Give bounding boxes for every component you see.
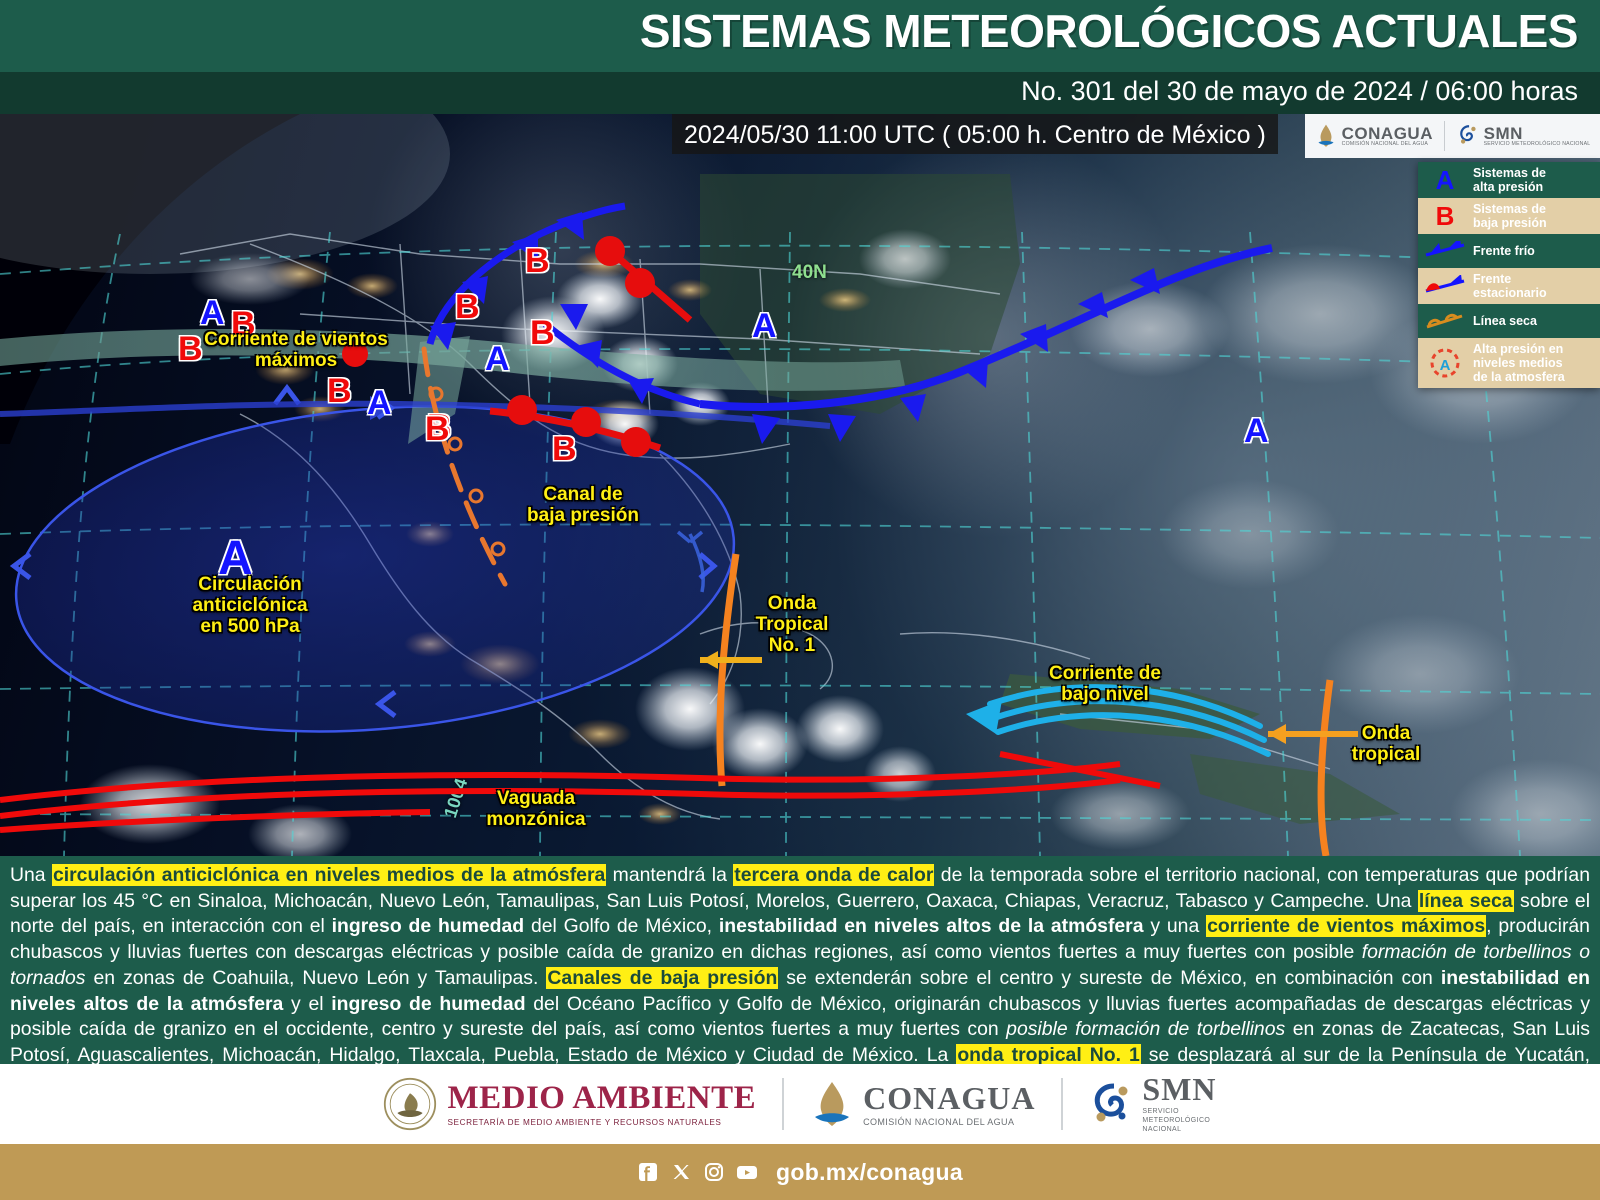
pressure-mark-B: B [552, 432, 577, 466]
forecast-segment-bd: inestabilidad en niveles altos de la atm… [10, 967, 1590, 1015]
stationary-front-northeast [595, 236, 690, 320]
forecast-segment-bd: inestabilidad en niveles altos de la atm… [719, 915, 1144, 937]
stationary-front-icon [1423, 275, 1467, 297]
pressure-mark-A: A [485, 342, 510, 376]
pressure-mark-A: A [1244, 414, 1269, 448]
pressure-mark-B: B [327, 374, 352, 408]
pressure-mark-A: A [200, 296, 225, 330]
tropical-wave-label: Onda tropical [1336, 724, 1436, 766]
map-timestamp: 2024/05/30 11:00 UTC ( 05:00 h. Centro d… [672, 114, 1278, 154]
conagua-name: CONAGUA [863, 1082, 1035, 1114]
jet-stream-label: Corriente de vientos máximos [196, 330, 396, 372]
forecast-segment-hl: línea seca [1418, 890, 1514, 912]
svg-text:A: A [1440, 357, 1451, 374]
forecast-segment-it: formación de torbellinos o tornados [10, 941, 1590, 989]
page-title: SISTEMAS METEOROLÓGICOS ACTUALES [640, 4, 1578, 58]
conagua-logo-name: CONAGUA [1342, 125, 1433, 142]
weather-bulletin-page: SISTEMAS METEOROLÓGICOS ACTUALES No. 301… [0, 0, 1600, 1200]
mid-level-high-icon: A [1423, 346, 1467, 380]
tropical-wave-east [1268, 680, 1358, 856]
anticyclone-label: Circulación anticiclónica en 500 hPa [170, 575, 330, 638]
smn-logo: SMN SERVICIO METEOROLÓGICO NACIONAL [1457, 123, 1591, 149]
smn-logo-name: SMN [1484, 125, 1591, 142]
monsoon-trough-label: Vaguada monzónica [466, 789, 606, 831]
youtube-icon[interactable] [736, 1161, 758, 1183]
low-level-jet-arrowhead [966, 700, 1002, 734]
smn-sub: SERVICIO METEOROLÓGICO NACIONAL [1142, 1108, 1216, 1134]
legend-item-low-pressure[interactable]: B Sistemas de baja presión [1418, 198, 1600, 234]
conagua-sub: COMISIÓN NACIONAL DEL AGUA [863, 1117, 1035, 1127]
cold-front-icon [1423, 241, 1467, 261]
forecast-paragraph: Una circulación anticiclónica en niveles… [10, 863, 1590, 1094]
conagua-eagle-icon [810, 1079, 854, 1129]
legend-item-dry-line[interactable]: Línea seca [1418, 304, 1600, 338]
conagua-logo: CONAGUA COMISIÓN NACIONAL DEL AGUA [1315, 123, 1433, 149]
low-level-jet-label: Corriente de bajo nivel [1030, 664, 1180, 706]
cold-front-atlantic [700, 248, 1272, 444]
legend-label: Frente estacionario [1473, 272, 1547, 300]
conagua-logo-sub: COMISIÓN NACIONAL DEL AGUA [1342, 142, 1433, 147]
forecast-text: Una circulación anticiclónica en niveles… [0, 856, 1600, 1064]
legend-item-high-pressure[interactable]: A Sistemas de alta presión [1418, 162, 1600, 198]
footer-divider [1061, 1078, 1063, 1130]
satellite-weather-map[interactable]: 40N 1004 [0, 114, 1600, 856]
legend-label: Línea seca [1473, 314, 1537, 328]
smn-name: SMN [1142, 1073, 1216, 1105]
mexico-seal-icon [383, 1077, 437, 1131]
footer-logos: MEDIO AMBIENTE SECRETARÍA DE MEDIO AMBIE… [0, 1064, 1600, 1144]
letter-B-icon: B [1423, 203, 1467, 229]
legend-label: Sistemas de baja presión [1473, 202, 1547, 230]
forecast-segment-hl: Canales de baja presión [546, 967, 778, 989]
facebook-icon[interactable] [637, 1161, 659, 1183]
logo-divider [1444, 121, 1445, 151]
legend-label: Sistemas de alta presión [1473, 166, 1546, 194]
smn-logo-sub: SERVICIO METEOROLÓGICO NACIONAL [1484, 142, 1591, 147]
forecast-segment-bd: ingreso de humedad [332, 915, 525, 937]
legend-item-cold-front[interactable]: Frente frío [1418, 234, 1600, 268]
tropical-wave-1-label: Onda Tropical No. 1 [742, 594, 842, 657]
forecast-segment-hl: tercera onda de calor [733, 864, 934, 886]
footer-social-bar: gob.mx/conagua [0, 1144, 1600, 1200]
pressure-mark-B: B [525, 244, 550, 278]
map-legend[interactable]: A Sistemas de alta presión B Sistemas de… [1418, 162, 1600, 388]
legend-item-mid-level-high[interactable]: A Alta presión en niveles medios de la a… [1418, 338, 1600, 388]
medio-ambiente-logo: MEDIO AMBIENTE SECRETARÍA DE MEDIO AMBIE… [383, 1077, 756, 1131]
forecast-segment-hl: circulación anticiclónica en niveles med… [52, 864, 606, 886]
pressure-mark-B: B [530, 316, 555, 350]
map-agency-logos: CONAGUA COMISIÓN NACIONAL DEL AGUA SMN S… [1305, 114, 1600, 158]
dry-line-icon [1423, 311, 1467, 331]
pressure-mark-A: A [752, 309, 777, 343]
forecast-segment-it: posible formación de torbellinos [1006, 1018, 1285, 1040]
pressure-mark-B: B [455, 290, 480, 324]
letter-A-icon: A [1423, 167, 1467, 193]
forecast-segment-bd: ingreso de humedad [331, 993, 525, 1015]
footer-smn-logo: SMN SERVICIO METEOROLÓGICO NACIONAL [1089, 1073, 1216, 1134]
medio-ambiente-name: MEDIO AMBIENTE [447, 1082, 756, 1115]
footer-divider [782, 1078, 784, 1130]
pressure-mark-B: B [425, 412, 450, 446]
x-twitter-icon[interactable] [670, 1161, 692, 1183]
conagua-eagle-icon [1315, 123, 1337, 149]
forecast-segment-hl: onda tropical No. 1 [956, 1044, 1140, 1066]
pressure-mark-A: A [367, 386, 392, 420]
footer-conagua-logo: CONAGUA COMISIÓN NACIONAL DEL AGUA [810, 1079, 1035, 1129]
legend-label: Frente frío [1473, 244, 1535, 258]
legend-item-stationary-front[interactable]: Frente estacionario [1418, 268, 1600, 304]
medio-ambiente-sub: SECRETARÍA DE MEDIO AMBIENTE Y RECURSOS … [447, 1118, 756, 1127]
smn-spiral-icon [1457, 123, 1479, 149]
gob-mx-url[interactable]: gob.mx/conagua [776, 1159, 963, 1186]
trough-label: Canal de baja presión [508, 485, 658, 527]
bulletin-number-date: No. 301 del 30 de mayo de 2024 / 06:00 h… [1021, 76, 1578, 107]
instagram-icon[interactable] [703, 1161, 725, 1183]
legend-label: Alta presión en niveles medios de la atm… [1473, 342, 1565, 384]
smn-spiral-icon [1089, 1079, 1133, 1129]
forecast-segment-hl: corriente de vientos máximos [1206, 915, 1486, 937]
